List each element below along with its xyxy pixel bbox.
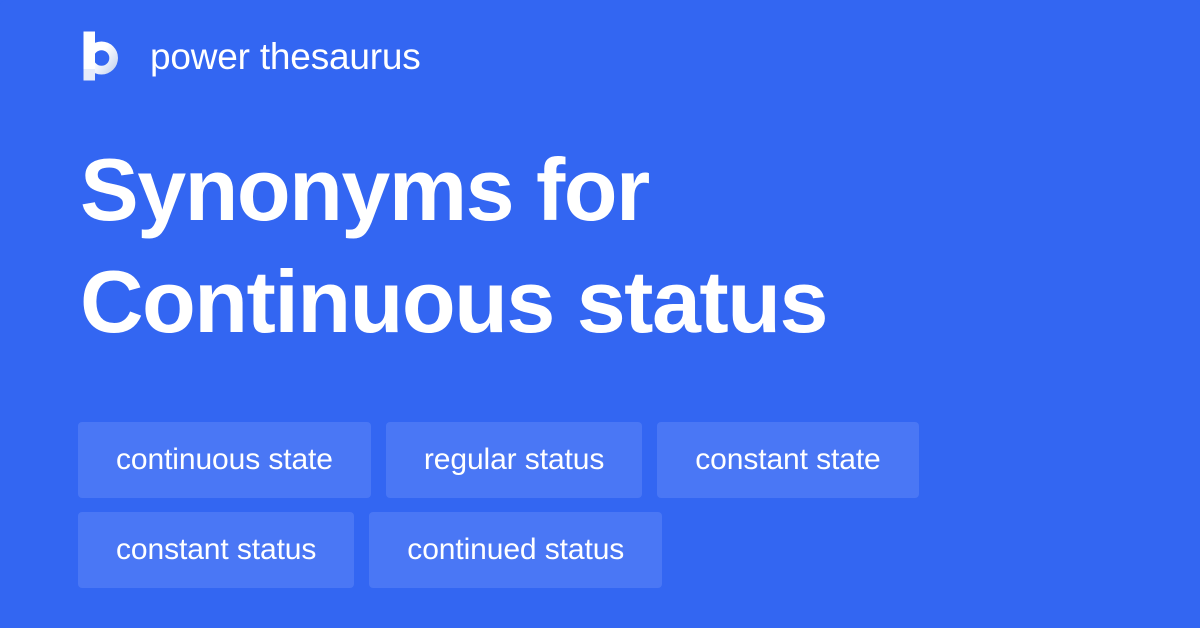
- brand-logo[interactable]: power thesaurus: [80, 28, 421, 84]
- synonym-chip[interactable]: constant state: [657, 422, 918, 498]
- synonym-chip[interactable]: continued status: [369, 512, 662, 588]
- page-title: Synonyms for Continuous status: [80, 134, 1110, 358]
- share-card: power thesaurus Synonyms for Continuous …: [0, 0, 1200, 628]
- brand-name: power thesaurus: [150, 38, 421, 75]
- synonym-chip[interactable]: constant status: [78, 512, 354, 588]
- synonym-chip[interactable]: continuous state: [78, 422, 371, 498]
- synonym-chip[interactable]: regular status: [386, 422, 642, 498]
- power-thesaurus-b-logo-icon: [80, 31, 122, 81]
- synonym-chip-list: continuous state regular status constant…: [78, 422, 1088, 588]
